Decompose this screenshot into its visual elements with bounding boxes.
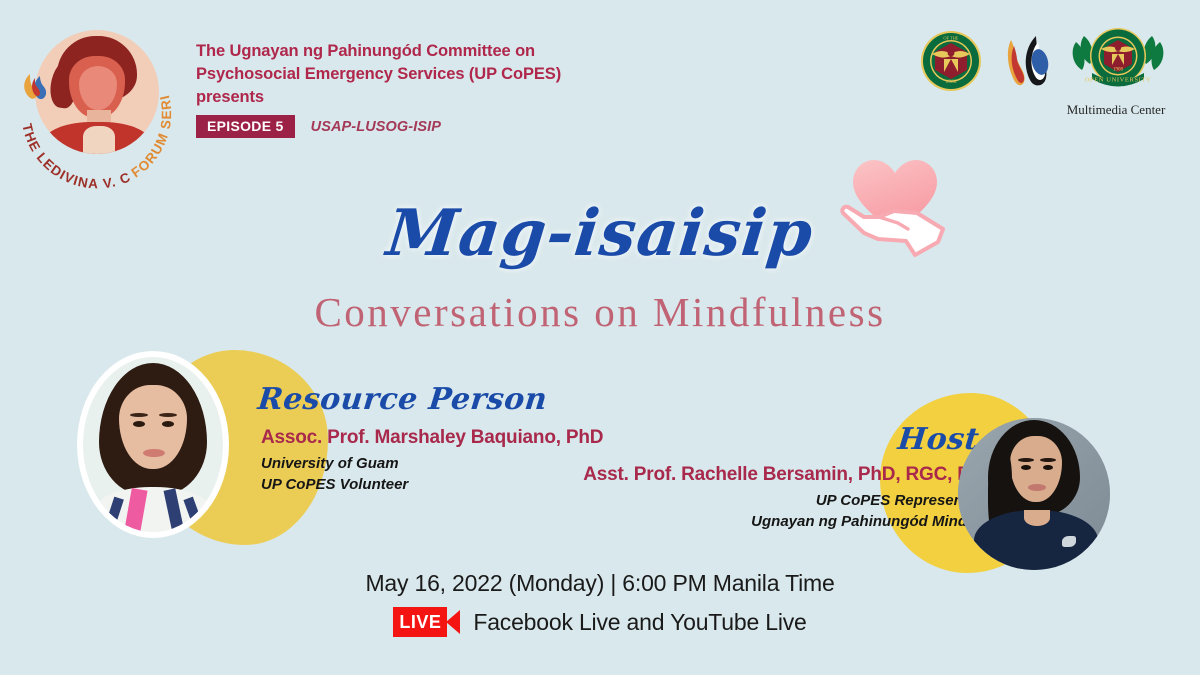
- badge-arc-text: THE LEDIVINA V. CARIÑO FORUM SERIES: [8, 18, 180, 190]
- arc-left-label: THE LEDIVINA V. CARIÑO: [8, 18, 133, 190]
- header-line-1: The Ugnayan ng Pahinungód Committee on: [196, 40, 796, 63]
- header-text-block: The Ugnayan ng Pahinungód Committee on P…: [196, 40, 796, 138]
- episode-row: EPISODE 5 USAP-LUSOG-ISIP: [196, 115, 796, 138]
- pahinungod-flame-icon: [20, 70, 48, 102]
- ugnayan-ng-pahinungod-logo-icon: [998, 26, 1062, 92]
- svg-text:OPEN UNIVERSITY: OPEN UNIVERSITY: [1085, 77, 1152, 84]
- live-platforms-label: Facebook Live and YouTube Live: [473, 609, 806, 636]
- resource-person-label: Resource Person: [256, 382, 549, 417]
- page-title: Mag-isaisip: [0, 196, 1200, 271]
- host-name: Asst. Prof. Rachelle Bersamin, PhD, RGC,…: [583, 464, 1004, 486]
- event-datetime: May 16, 2022 (Monday) | 6:00 PM Manila T…: [0, 570, 1200, 597]
- svg-text:1908: 1908: [946, 79, 957, 85]
- svg-text:1908: 1908: [1113, 68, 1124, 73]
- svg-text:THE LEDIVINA V. CARIÑO: THE LEDIVINA V. CARIÑO: [8, 18, 133, 190]
- partner-logos: 1908 OF THE 1908: [896, 24, 1186, 134]
- live-badge-icon: LIVE: [393, 607, 447, 637]
- episode-tagline: USAP-LUSOG-ISIP: [311, 119, 441, 135]
- resource-person-affiliation-1: University of Guam: [261, 455, 399, 472]
- resource-person-photo: [83, 357, 223, 532]
- multimedia-center-label: Multimedia Center: [1046, 102, 1186, 118]
- page-subtitle: Conversations on Mindfulness: [0, 288, 1200, 336]
- poster-canvas: THE LEDIVINA V. CARIÑO FORUM SERIES The …: [0, 0, 1200, 675]
- live-stream-row: LIVE Facebook Live and YouTube Live: [0, 607, 1200, 637]
- header-line-3: presents: [196, 86, 796, 109]
- svg-text:OF THE: OF THE: [943, 36, 958, 41]
- host-photo: [958, 418, 1110, 570]
- header-line-2: Psychosocial Emergency Services (UP CoPE…: [196, 63, 796, 86]
- up-open-university-seal-icon: 1908 OPEN UNIVERSITY: [1068, 26, 1168, 94]
- resource-person-name: Assoc. Prof. Marshaley Baquiano, PhD: [261, 427, 603, 449]
- resource-person-affiliation-2: UP CoPES Volunteer: [261, 476, 408, 493]
- up-seal-icon: 1908 OF THE: [920, 30, 982, 92]
- ledivina-carino-forum-series-badge: THE LEDIVINA V. CARIÑO FORUM SERIES: [8, 18, 180, 190]
- episode-badge: EPISODE 5: [196, 115, 295, 138]
